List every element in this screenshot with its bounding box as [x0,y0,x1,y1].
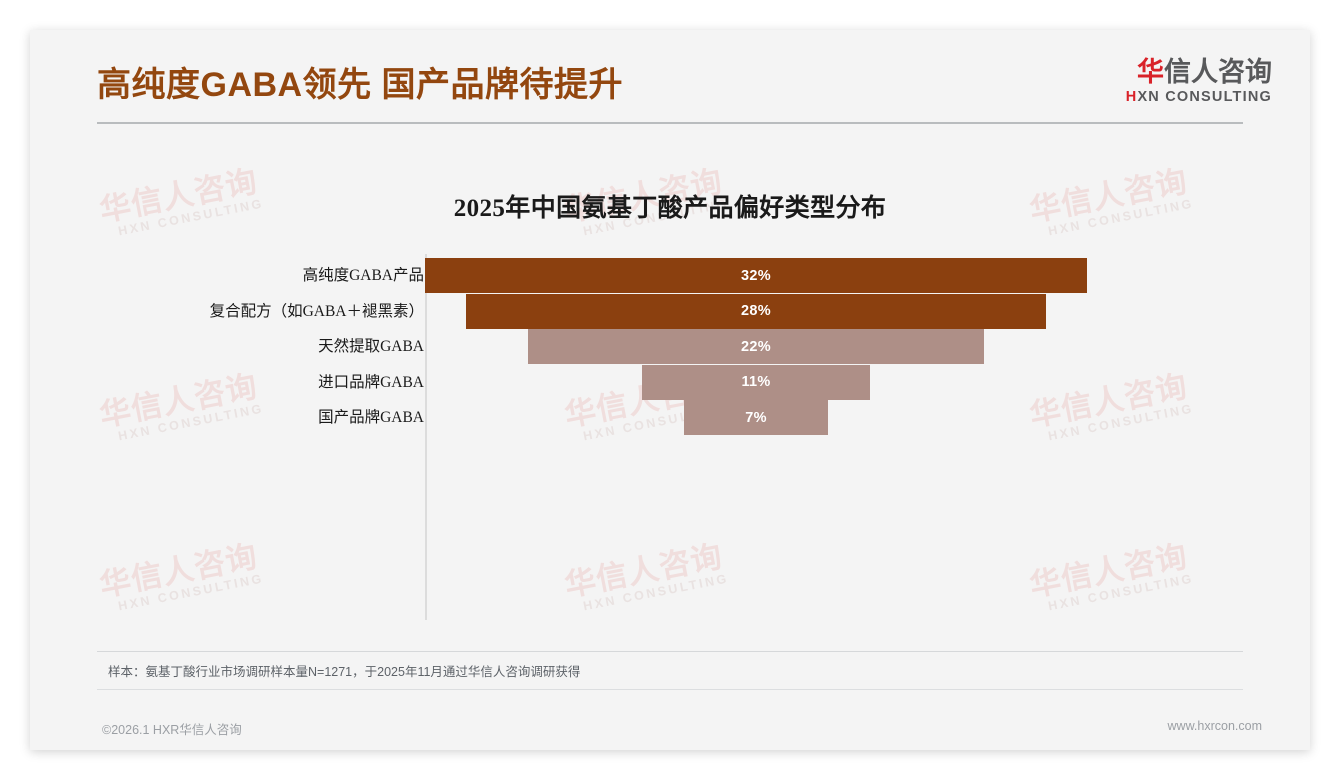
bar-value-label: 28% [741,303,771,319]
slide-canvas: 华信人咨询HXN CONSULTING华信人咨询HXN CONSULTING华信… [30,30,1310,750]
category-label: 进口品牌GABA [318,365,424,400]
chart-bar[interactable]: 11% [642,365,870,400]
category-label: 高纯度GABA产品 [303,258,424,293]
website-link[interactable]: www.hxrcon.com [1168,719,1262,733]
category-label: 天然提取GABA [318,329,424,364]
chart-plot-area: 高纯度GABA产品32%复合配方（如GABA＋褪黑素）28%天然提取GABA22… [30,254,1310,620]
copyright-text: ©2026.1 HXR华信人咨询 [102,719,242,738]
logo-en-accent-char: H [1126,89,1138,105]
footnote-bottom-divider [97,689,1243,690]
chart-title: 2025年中国氨基丁酸产品偏好类型分布 [30,188,1310,224]
chart-bar-row: 国产品牌GABA7% [30,400,1310,435]
category-label: 复合配方（如GABA＋褪黑素） [210,294,424,329]
chart-bar-row: 进口品牌GABA11% [30,365,1310,400]
bar-value-label: 32% [741,268,771,284]
chart-bar[interactable]: 28% [466,294,1045,329]
footnote-top-divider [97,651,1243,652]
bar-value-label: 11% [741,374,770,390]
brand-logo: 华信人咨询 HXN CONSULTING [1126,58,1272,105]
chart-bar-row: 高纯度GABA产品32% [30,258,1310,293]
logo-english-text: HXN CONSULTING [1126,89,1272,105]
header-divider [97,122,1243,124]
chart-bar[interactable]: 22% [528,329,983,364]
logo-en-rest: XN CONSULTING [1137,89,1272,105]
footnote-text: 样本：氨基丁酸行业市场调研样本量N=1271，于2025年11月通过华信人咨询调… [108,661,580,680]
bar-value-label: 7% [745,410,767,426]
chart-container: 2025年中国氨基丁酸产品偏好类型分布 高纯度GABA产品32%复合配方（如GA… [30,130,1310,675]
chart-bar[interactable]: 7% [684,400,829,435]
slide-header: 高纯度GABA领先 国产品牌待提升 华信人咨询 HXN CONSULTING [30,30,1310,130]
logo-chinese-text: 华信人咨询 [1126,58,1272,86]
bar-value-label: 22% [741,339,771,355]
chart-bar-row: 天然提取GABA22% [30,329,1310,364]
chart-bar-row: 复合配方（如GABA＋褪黑素）28% [30,294,1310,329]
slide-footer: ©2026.1 HXR华信人咨询 www.hxrcon.com [30,702,1310,750]
logo-chinese-rest: 信人咨询 [1164,57,1272,87]
chart-bar[interactable]: 32% [425,258,1087,293]
logo-accent-char: 华 [1137,57,1164,87]
category-label: 国产品牌GABA [318,400,424,435]
page-title: 高纯度GABA领先 国产品牌待提升 [97,57,623,106]
